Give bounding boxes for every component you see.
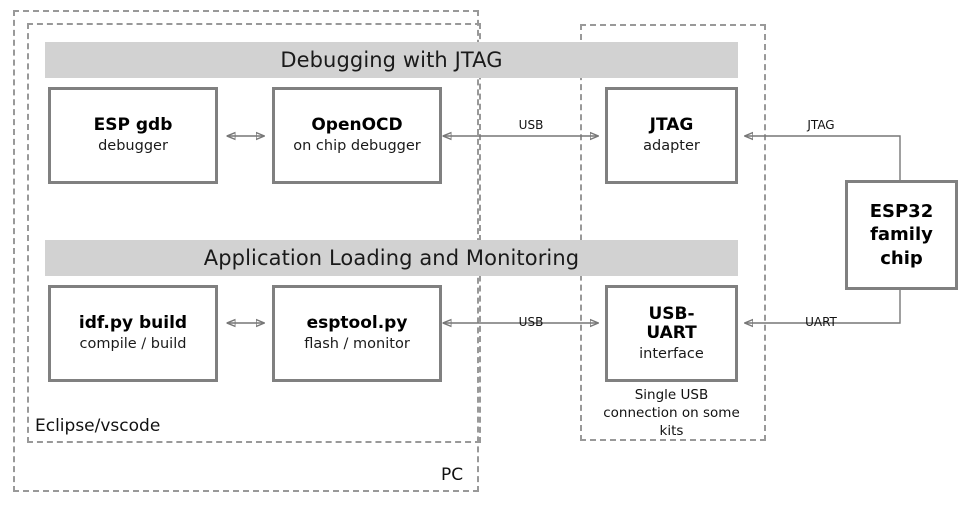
section-band-loading: Application Loading and Monitoring [45,240,738,276]
box-subtitle: on chip debugger [293,138,420,155]
box-title: OpenOCD [311,116,402,135]
box-esptool[interactable]: esptool.py flash / monitor [272,285,442,382]
box-title: USB- UART [646,305,696,343]
diagram-canvas: Debugging with JTAG Application Loading … [0,0,966,506]
usb-uart-note: Single USB connection on some kits [588,387,755,440]
zone-label-pc: PC [441,465,463,485]
section-title-debugging: Debugging with JTAG [280,48,502,72]
box-idf-build[interactable]: idf.py build compile / build [48,285,218,382]
box-esp-gdb[interactable]: ESP gdb debugger [48,87,218,184]
box-jtag-adapter[interactable]: JTAG adapter [605,87,738,184]
box-title: idf.py build [79,314,187,333]
box-subtitle: compile / build [80,336,187,353]
box-subtitle: interface [639,346,704,363]
box-title: esptool.py [307,314,408,333]
zone-label-ide: Eclipse/vscode [35,416,160,436]
box-title: JTAG [650,116,694,135]
wire-label-usb-top: USB [503,118,559,132]
wire-label-usb-bottom: USB [503,315,559,329]
box-subtitle: adapter [643,138,700,155]
section-band-debugging: Debugging with JTAG [45,42,738,78]
box-subtitle: flash / monitor [304,336,410,353]
section-title-loading: Application Loading and Monitoring [204,246,579,270]
box-openocd[interactable]: OpenOCD on chip debugger [272,87,442,184]
wire-label-jtag: JTAG [793,118,849,132]
box-title: ESP gdb [94,116,173,135]
box-usb-uart[interactable]: USB- UART interface [605,285,738,382]
box-title: ESP32 family chip [870,200,934,270]
box-esp32-chip[interactable]: ESP32 family chip [845,180,958,290]
box-subtitle: debugger [98,138,168,155]
wire-label-uart: UART [793,315,849,329]
